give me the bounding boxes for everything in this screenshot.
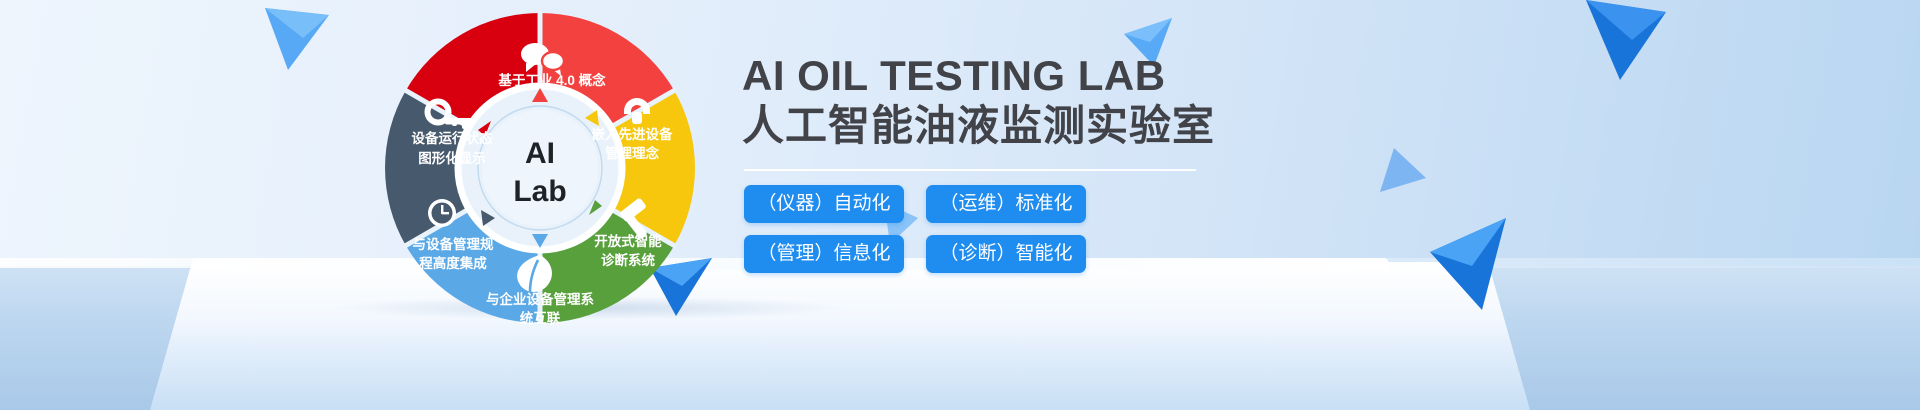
feature-pill-diagnosis-intelligence[interactable]: （诊断）智能化 bbox=[926, 235, 1086, 273]
wheel-label-interconnect-line2: 统互联 bbox=[520, 310, 561, 326]
wheel-label-advanced-line2: 管理理念 bbox=[605, 145, 659, 161]
banner-root: AI Lab bbox=[0, 0, 1920, 410]
feature-pill-operations-standardization[interactable]: （运维）标准化 bbox=[926, 185, 1086, 223]
triangle-decoration-icon bbox=[265, 8, 335, 70]
wheel-svg: AI Lab bbox=[380, 8, 700, 328]
divider-rule bbox=[744, 169, 1196, 171]
wheel-label-status-line2: 图形化显示 bbox=[418, 150, 486, 166]
wheel-label-integration-line2: 程高度集成 bbox=[419, 255, 487, 271]
wheel-hub-line2: Lab bbox=[513, 175, 566, 208]
wheel-label-diagnosis-line1: 开放式智能 bbox=[594, 233, 662, 249]
title-chinese: 人工智能油液监测实验室 bbox=[742, 101, 1502, 151]
wheel-hub-line1: AI bbox=[525, 137, 555, 170]
ai-lab-wheel-diagram: AI Lab bbox=[380, 8, 700, 328]
wheel-label-integration-line1: 与设备管理规 bbox=[413, 236, 494, 252]
feature-pill-management-informatization[interactable]: （管理）信息化 bbox=[744, 235, 904, 273]
headline-block: AI OIL TESTING LAB 人工智能油液监测实验室 （仪器）自动化 （… bbox=[742, 52, 1502, 273]
title-english: AI OIL TESTING LAB bbox=[742, 52, 1502, 99]
wheel-label-interconnect-line1: 与企业设备管理系 bbox=[486, 291, 594, 307]
podium-platform bbox=[150, 262, 1530, 410]
feature-pill-grid: （仪器）自动化 （运维）标准化 （管理）信息化 （诊断）智能化 bbox=[744, 185, 1502, 273]
feature-pill-instrument-automation[interactable]: （仪器）自动化 bbox=[744, 185, 904, 223]
wheel-label-advanced-line1: 嵌入先进设备 bbox=[592, 126, 673, 142]
wheel-label-concept-line1: 基于工业 4.0 概念 bbox=[498, 72, 606, 88]
triangle-decoration-icon bbox=[1580, 0, 1666, 80]
clock-icon bbox=[428, 199, 456, 227]
wheel-label-diagnosis-line2: 诊断系统 bbox=[601, 252, 655, 268]
wheel-label-status-line1: 设备运行状态 bbox=[412, 130, 493, 146]
